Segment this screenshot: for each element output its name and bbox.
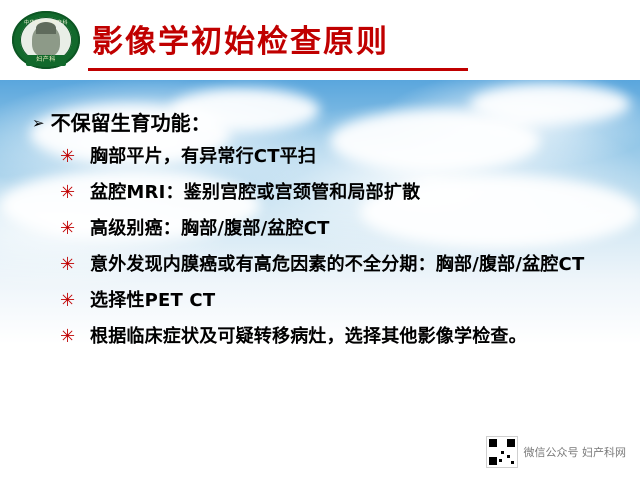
slide-content: ➢不保留生育功能： ✳ 胸部平片，有异常行CT平扫 ✳ 盆腔MRI：鉴别宫腔或宫… — [0, 80, 640, 480]
list-item-label: 意外发现内膜癌或有高危因素的不全分期：胸部/腹部/盆腔CT — [90, 254, 584, 275]
asterisk-bullet-icon: ✳ — [60, 287, 82, 314]
asterisk-bullet-icon: ✳ — [60, 251, 82, 278]
institution-emblem-icon: 中华医学会妇产科 妇产科 — [12, 11, 80, 69]
watermark: 微信公众号 妇产科网 — [486, 436, 627, 468]
list-item-label: 根据临床症状及可疑转移病灶，选择其他影像学检查。 — [90, 326, 527, 347]
lead-heading-label: 不保留生育功能： — [51, 111, 211, 135]
list-item: ✳ 选择性PET CT — [60, 287, 620, 314]
watermark-label: 微信公众号 妇产科网 — [524, 444, 627, 460]
list-item-label: 盆腔MRI：鉴别宫腔或宫颈管和局部扩散 — [90, 182, 420, 203]
slide: 中华医学会妇产科 妇产科 影像学初始检查原则 ➢不保留生育功能： ✳ 胸部平片，… — [0, 0, 640, 480]
qr-code-icon — [486, 436, 518, 468]
asterisk-bullet-icon: ✳ — [60, 215, 82, 242]
page-title: 影像学初始检查原则 — [92, 16, 389, 61]
asterisk-bullet-icon: ✳ — [60, 323, 82, 350]
emblem-portrait-icon — [32, 25, 60, 57]
bullet-list: ✳ 胸部平片，有异常行CT平扫 ✳ 盆腔MRI：鉴别宫腔或宫颈管和局部扩散 ✳ … — [60, 143, 620, 359]
list-item: ✳ 盆腔MRI：鉴别宫腔或宫颈管和局部扩散 — [60, 179, 620, 206]
list-item: ✳ 根据临床症状及可疑转移病灶，选择其他影像学检查。 — [60, 323, 620, 350]
slide-header: 中华医学会妇产科 妇产科 影像学初始检查原则 — [0, 0, 640, 80]
emblem-band-text: 妇产科 — [26, 55, 66, 66]
list-item: ✳ 胸部平片，有异常行CT平扫 — [60, 143, 620, 170]
asterisk-bullet-icon: ✳ — [60, 143, 82, 170]
list-item: ✳ 高级别癌：胸部/腹部/盆腔CT — [60, 215, 620, 242]
title-underline — [88, 68, 468, 71]
asterisk-bullet-icon: ✳ — [60, 179, 82, 206]
list-item-label: 胸部平片，有异常行CT平扫 — [90, 146, 316, 167]
arrow-bullet-icon: ➢ — [32, 114, 45, 132]
list-item-label: 选择性PET CT — [90, 290, 215, 311]
list-item: ✳ 意外发现内膜癌或有高危因素的不全分期：胸部/腹部/盆腔CT — [60, 251, 620, 278]
lead-heading: ➢不保留生育功能： — [32, 107, 211, 136]
list-item-label: 高级别癌：胸部/腹部/盆腔CT — [90, 218, 330, 239]
